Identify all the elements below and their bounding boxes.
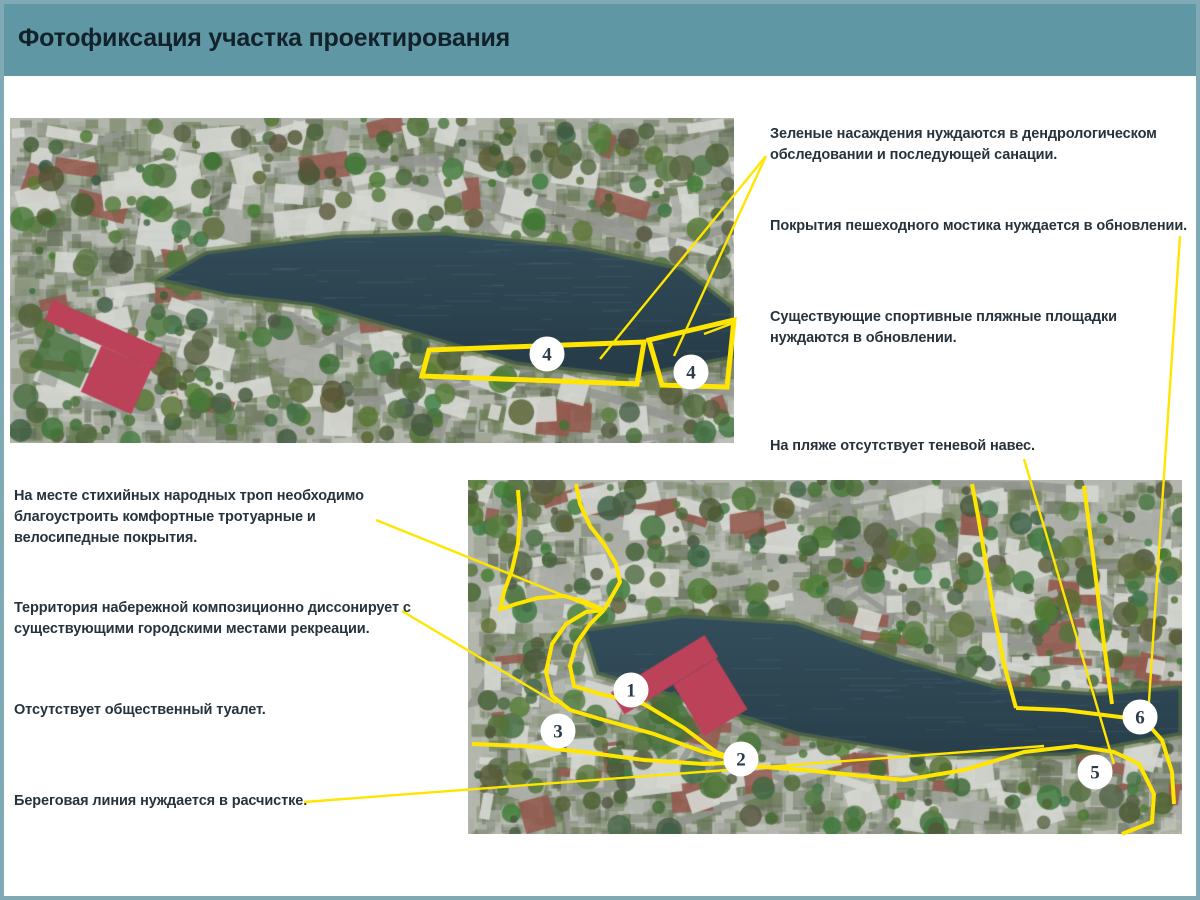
aerial-photo-bottom [468, 480, 1182, 834]
annotation-paths: На месте стихийных народных троп необход… [14, 486, 424, 549]
annotation-sport-grounds: Существующие спортивные пляжные площадки… [770, 307, 1130, 349]
aerial-photo-top [10, 118, 734, 443]
annotation-green-plantings: Зеленые насаждения нуждаются в дендролог… [770, 124, 1190, 166]
annotation-shade-canopy: На пляже отсутствует теневой навес. [770, 436, 1100, 457]
page-title: Фотофиксация участка проектирования [18, 24, 510, 53]
slide-page: Фотофиксация участка проектирования Зеле… [0, 0, 1200, 900]
annotation-composition: Территория набережной композиционно дисс… [14, 598, 419, 640]
annotation-shoreline: Береговая линия нуждается в расчистке. [14, 791, 334, 812]
annotation-bridge-surface: Покрытия пешеходного мостика нуждается в… [770, 216, 1190, 237]
annotation-toilet: Отсутствует общественный туалет. [14, 700, 344, 721]
